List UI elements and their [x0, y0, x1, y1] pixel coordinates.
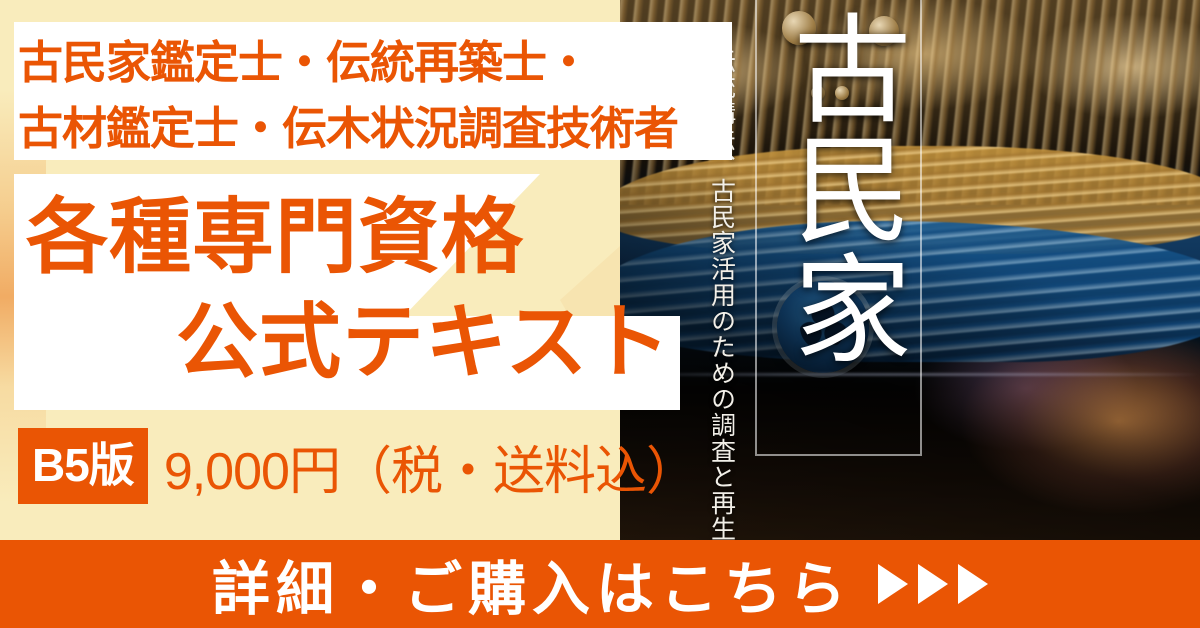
price-text: 9,000円（税・送料込） [164, 429, 697, 504]
price-row: B5版 9,000円（税・送料込） [18, 428, 697, 504]
chevron-right-icon [878, 564, 908, 604]
main-title: 各種専門資格 公式テキスト [26, 186, 676, 396]
cta-button-bar[interactable]: 詳細・ご購入はこちら [0, 540, 1200, 628]
main-title-line-2: 公式テキスト [26, 291, 676, 396]
cover-title-text: 古民家 [770, 8, 910, 368]
chevron-right-icon [918, 564, 948, 604]
chevron-right-icon [958, 564, 988, 604]
cta-arrows [878, 564, 988, 604]
size-badge: B5版 [18, 428, 148, 504]
main-title-line-1: 各種専門資格 [26, 186, 676, 291]
qualifications-line-2: 古材鑑定士・伝木状況調査技術者 [18, 96, 728, 162]
qualifications-line-1: 古民家鑑定士・伝統再築士・ [18, 30, 728, 96]
cta-label: 詳細・ご購入はこちら [212, 542, 852, 626]
promo-banner: 古民家 伝統構法、古民家活用のための調査と再生の 古民家鑑定士・伝統再築士・ 古… [0, 0, 1200, 628]
qualifications-heading: 古民家鑑定士・伝統再築士・ 古材鑑定士・伝木状況調査技術者 [18, 30, 728, 161]
